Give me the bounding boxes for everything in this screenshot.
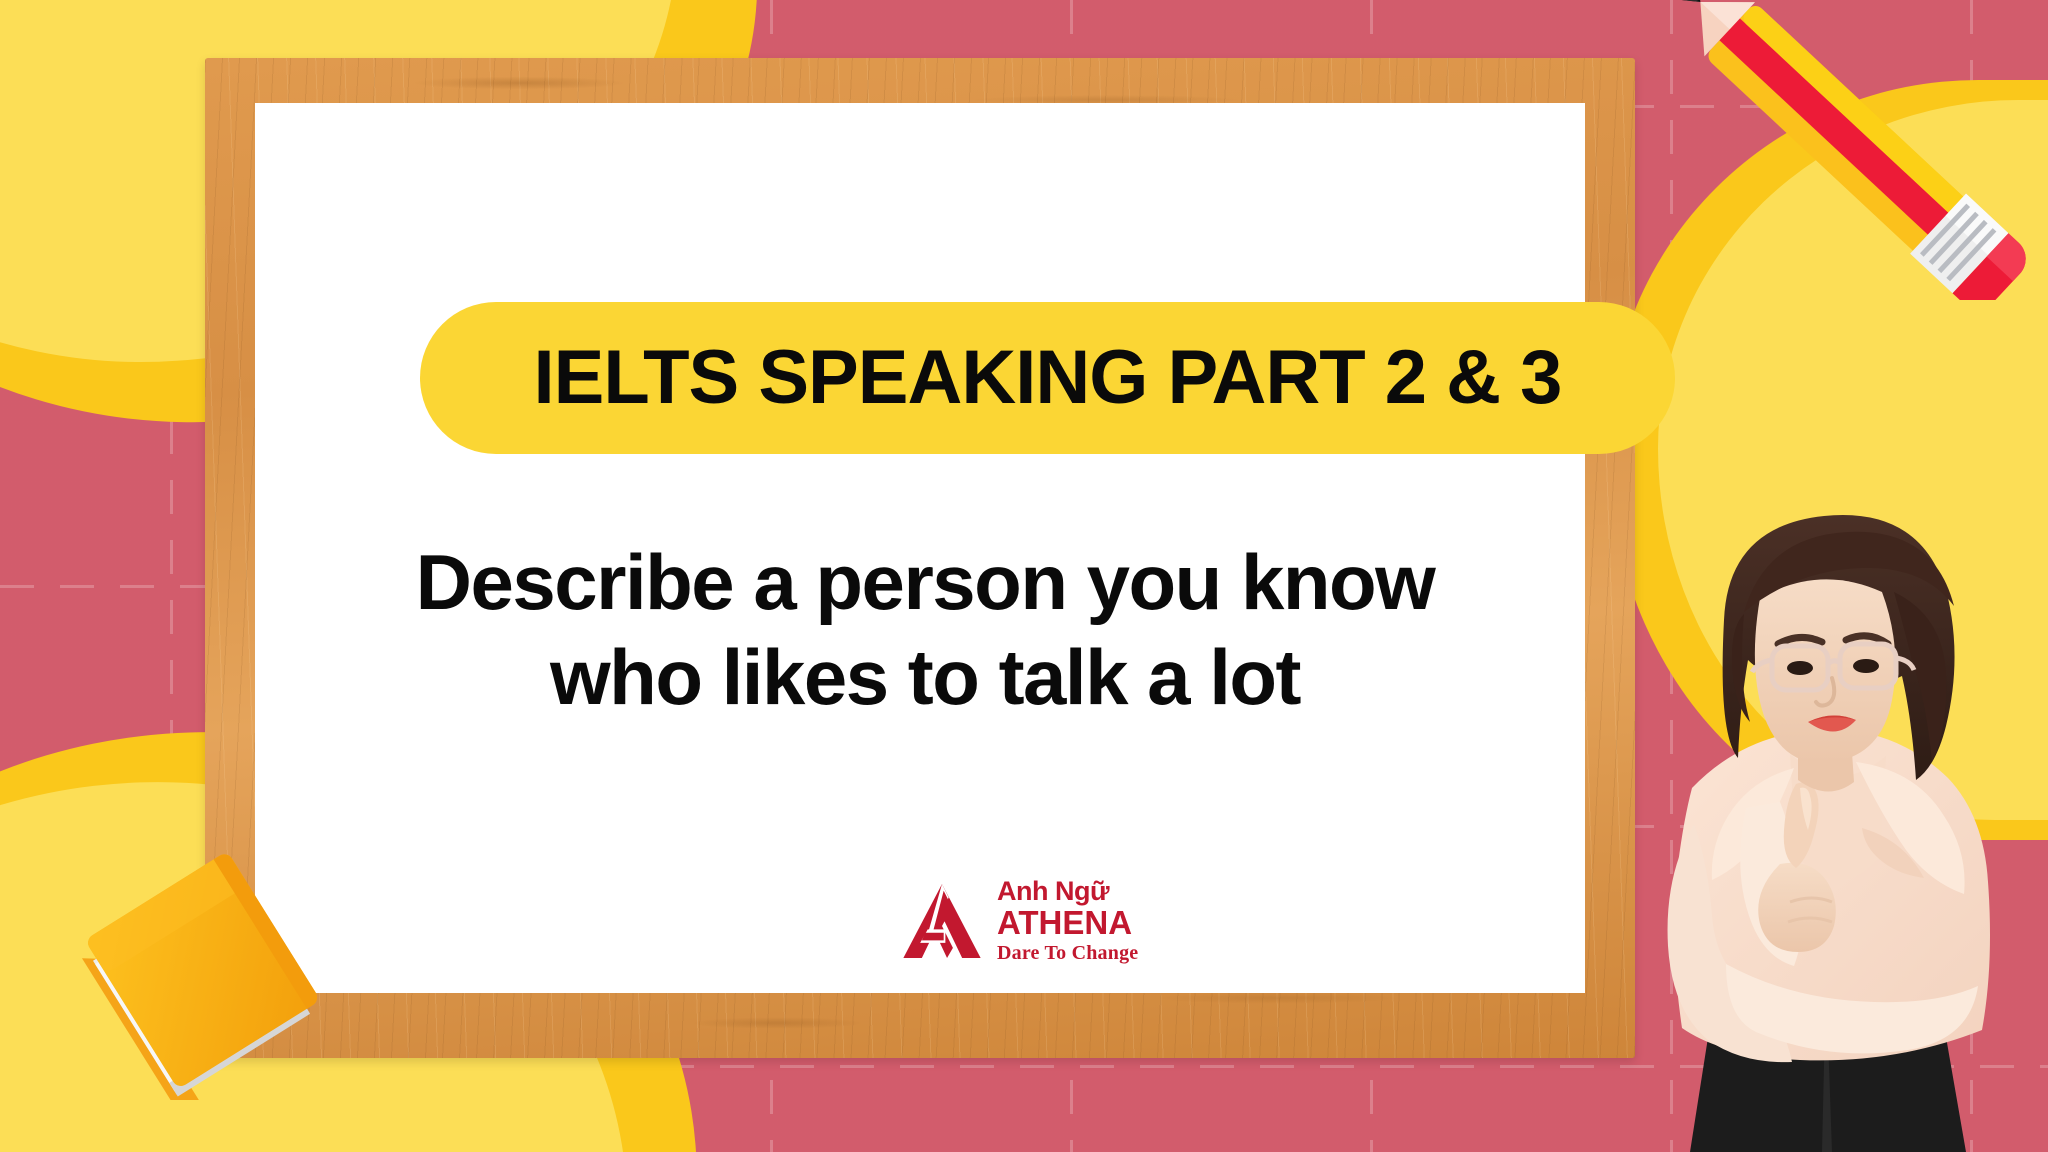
slide-canvas: IELTS SPEAKING PART 2 & 3 Describe a per… [0, 0, 2048, 1152]
logo-tagline: Dare To Change [997, 943, 1138, 963]
question-text-block: Describe a person you know who likes to … [300, 535, 1550, 725]
title-banner-text: IELTS SPEAKING PART 2 & 3 [534, 340, 1562, 416]
logo-wordmark: Anh Ngữ ATHENA Dare To Change [997, 878, 1138, 963]
athena-a-monogram-icon [900, 879, 984, 963]
question-line-1: Describe a person you know [300, 535, 1550, 630]
title-banner: IELTS SPEAKING PART 2 & 3 [420, 302, 1675, 454]
question-line-2: who likes to talk a lot [300, 630, 1550, 725]
logo-line-2: ATHENA [997, 906, 1138, 939]
brand-logo: Anh Ngữ ATHENA Dare To Change [900, 878, 1138, 963]
logo-line-1: Anh Ngữ [997, 878, 1138, 905]
